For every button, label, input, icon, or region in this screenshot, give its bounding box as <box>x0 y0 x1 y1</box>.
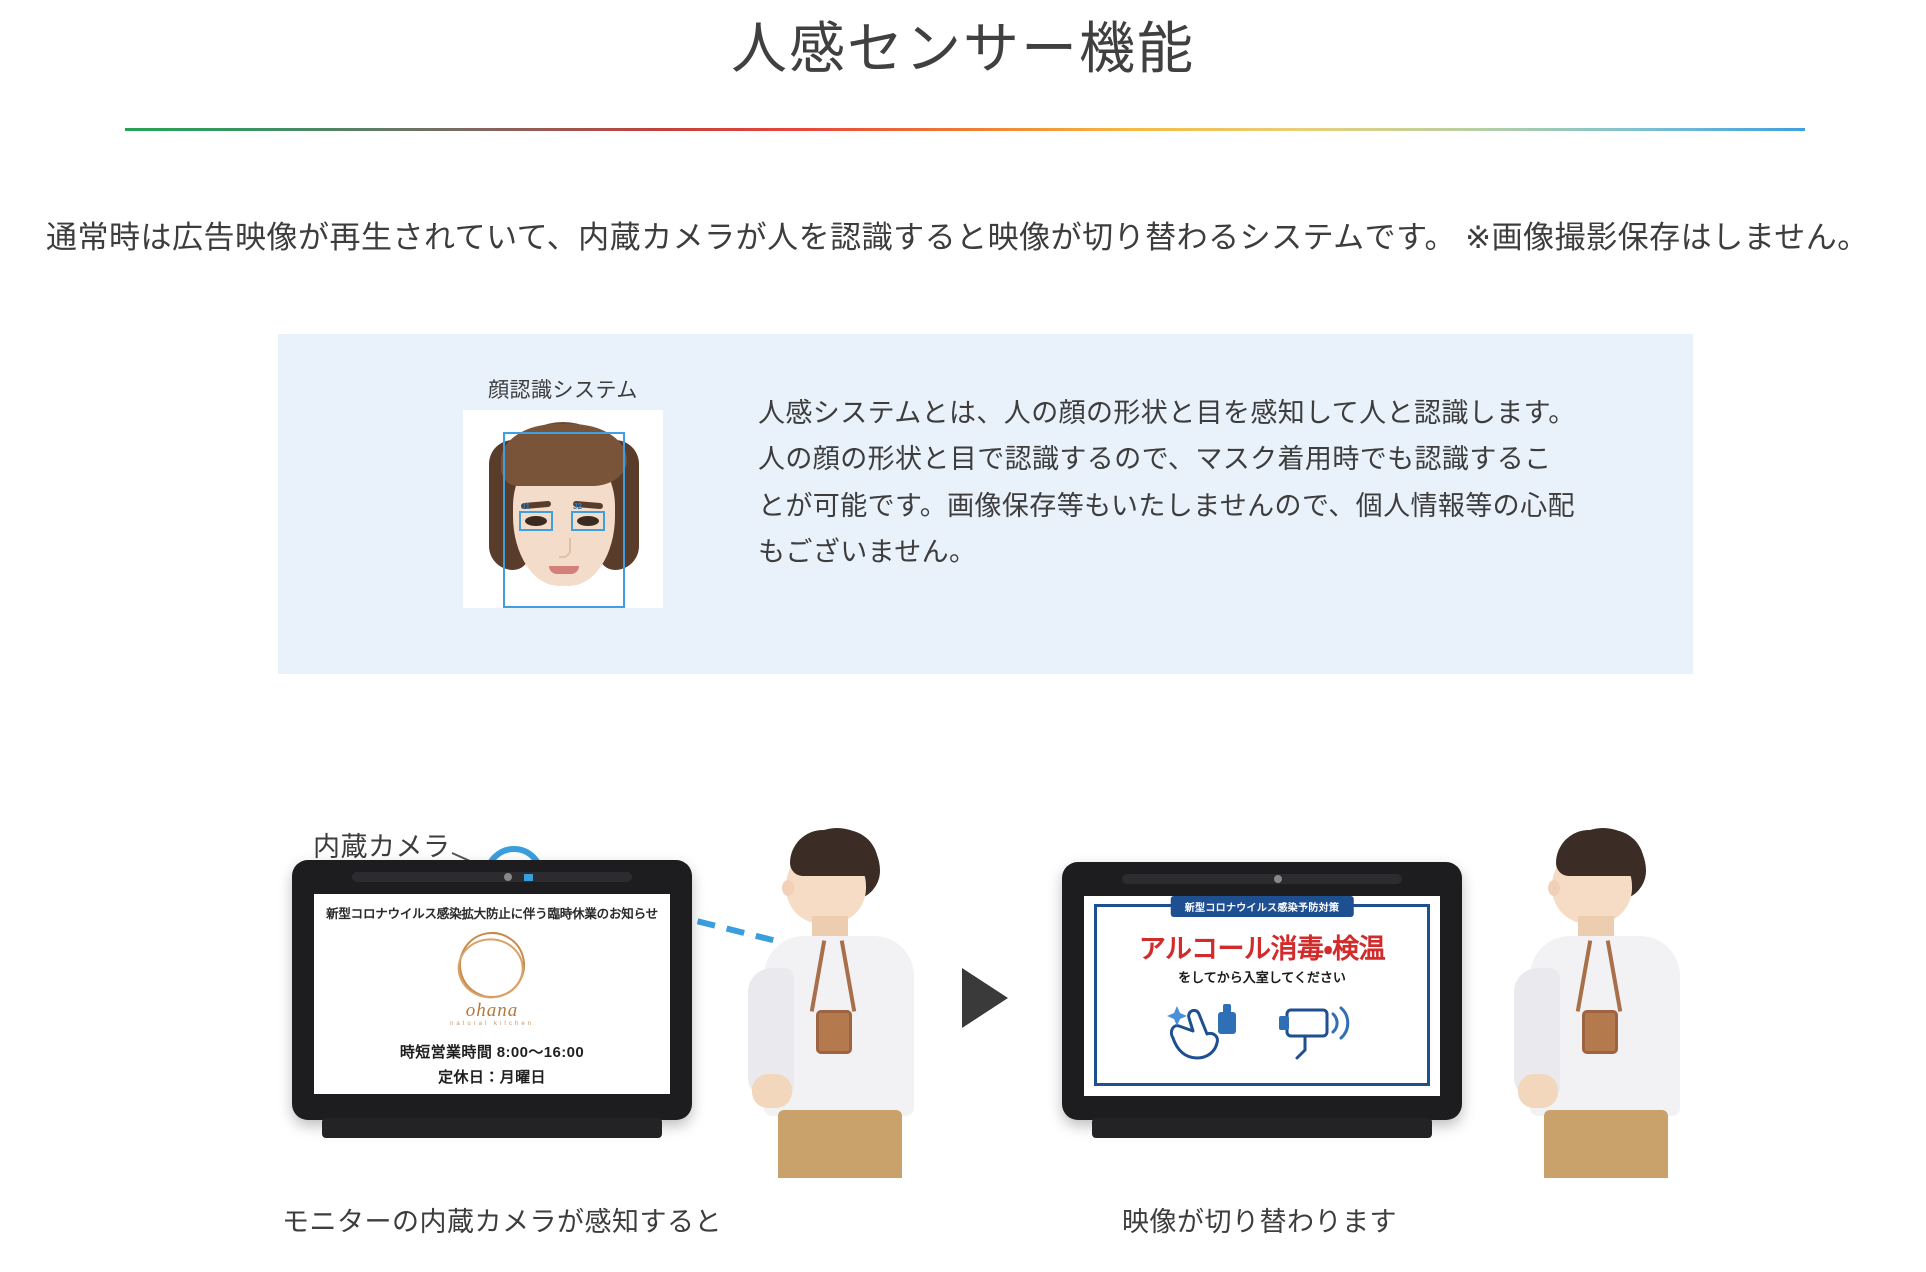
person-figure-right <box>1508 828 1698 1178</box>
closure-notice-heading: 新型コロナウイルス感染拡大防止に伴う臨時休業のお知らせ <box>314 903 670 922</box>
person-hair-top-icon <box>790 830 878 876</box>
monitor-after-screen: 新型コロナウイルス感染予防対策 アルコール消毒・検温 をしてから入室してください <box>1084 896 1440 1096</box>
caption-after: 映像が切り替わります <box>1122 1200 1397 1239</box>
built-in-camera-callout-label: 内蔵カメラ <box>313 825 451 864</box>
monitor-before-screen: 新型コロナウイルス感染拡大防止に伴う臨時休業のお知らせ ohana natura… <box>314 894 670 1094</box>
monitor-stand <box>322 1118 662 1138</box>
camera-strip <box>1122 874 1402 884</box>
person-hand-icon <box>1518 1074 1558 1108</box>
person-pants-icon <box>778 1110 902 1178</box>
eye-detection-label-1: J1 <box>521 502 530 511</box>
camera-strip <box>352 872 632 882</box>
poster-subtitle: をしてから入室してください <box>1097 967 1427 986</box>
business-hours-text: 時短営業時間 8:00〜16:00 <box>314 1041 670 1062</box>
ohana-brand-tagline: natural kitchen <box>314 1021 670 1027</box>
eye-detection-label-2: J2 <box>573 502 582 511</box>
hygiene-poster: 新型コロナウイルス感染予防対策 アルコール消毒・検温 をしてから入室してください <box>1094 904 1430 1086</box>
person-id-badge-icon <box>1582 1010 1618 1054</box>
poster-badge-label: 新型コロナウイルス感染予防対策 <box>1171 896 1354 917</box>
camera-lens-icon <box>1274 875 1282 883</box>
face-recognition-info-panel: 顔認識システム J1 J2 人感システムとは、人の顔の形状と目を感知して人と認識… <box>278 334 1693 674</box>
ohana-brand-name: ohana <box>314 1000 670 1022</box>
closed-day-text: 定休日：月曜日 <box>314 1066 670 1087</box>
face-recognition-figure: 顔認識システム J1 J2 <box>458 374 668 608</box>
person-id-badge-icon <box>816 1010 852 1054</box>
lead-description: 通常時は広告映像が再生されていて、内蔵カメラが人を認識すると映像が切り替わるシス… <box>46 215 1886 262</box>
monitor-before: 新型コロナウイルス感染拡大防止に伴う臨時休業のお知らせ ohana natura… <box>292 860 692 1120</box>
eye-detection-box-1: J1 <box>519 511 553 531</box>
camera-lens-icon <box>504 873 512 881</box>
person-hand-icon <box>752 1074 792 1108</box>
person-hair-top-icon <box>1556 830 1644 876</box>
hand-sanitizer-icon <box>1163 998 1249 1064</box>
monitor-after: 新型コロナウイルス感染予防対策 アルコール消毒・検温 をしてから入室してください <box>1062 862 1462 1120</box>
poster-icon-row <box>1097 998 1427 1064</box>
gradient-divider <box>125 128 1805 131</box>
person-pants-icon <box>1544 1110 1668 1178</box>
person-figure-left <box>742 828 932 1178</box>
transition-arrow-icon <box>962 968 1008 1028</box>
camera-indicator-icon <box>524 874 533 881</box>
ohana-logo-icon <box>453 926 531 1004</box>
face-recognition-description: 人感システムとは、人の顔の形状と目を感知して人と認識します。人の顔の形状と目で認… <box>758 390 1578 576</box>
face-photo: J1 J2 <box>463 410 663 608</box>
monitor-stand <box>1092 1118 1432 1138</box>
person-ear-icon <box>782 880 794 896</box>
person-ear-icon <box>1548 880 1560 896</box>
sensor-flow-scene: 内蔵カメラ 新型コロナウイルス感染拡大防止に伴う臨時休業のお知らせ ohana … <box>0 790 1926 1272</box>
page-title: 人感センサー機能 <box>0 14 1926 84</box>
face-recognition-caption: 顔認識システム <box>458 374 668 404</box>
caption-before: モニターの内蔵カメラが感知すると <box>282 1200 722 1239</box>
poster-title: アルコール消毒・検温 <box>1097 927 1427 966</box>
eye-detection-box-2: J2 <box>571 511 605 531</box>
thermometer-gun-icon <box>1275 998 1361 1064</box>
